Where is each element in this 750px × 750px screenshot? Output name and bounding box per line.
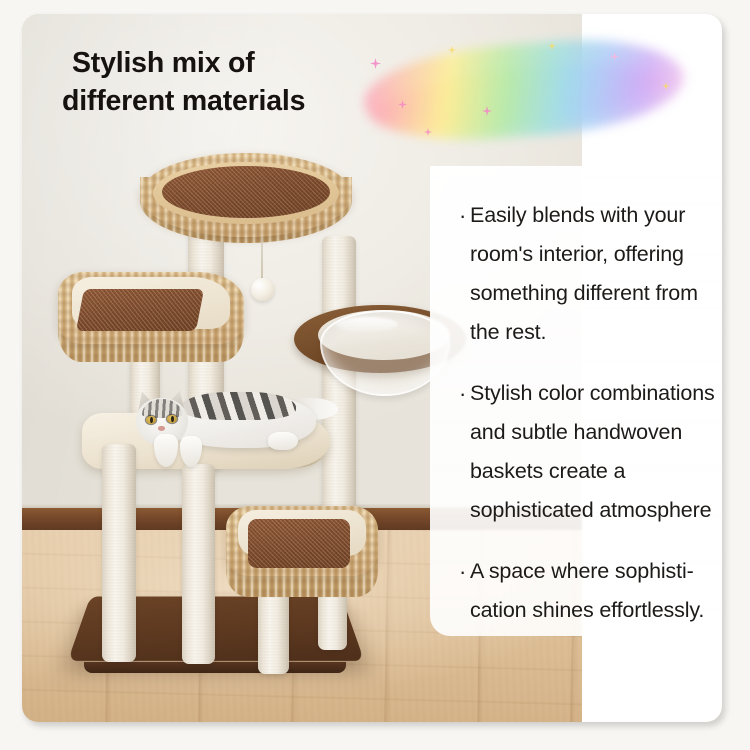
bullet-item: · A space where sophisti- cation shines …: [459, 552, 722, 630]
scratching-post-front-mid: [182, 464, 215, 664]
bottom-shelf-mat: [248, 519, 350, 568]
bullet-item: · Stylish color combinations and subtle …: [459, 374, 722, 530]
bullet-text: Stylish color combinations and subtle ha…: [470, 374, 715, 530]
bowl-highlight: [336, 317, 398, 332]
cat-tabby-markings: [180, 392, 296, 420]
bullet-marker-icon: ·: [459, 552, 470, 591]
bullet-line: room's interior, offering: [470, 235, 698, 274]
headline-line-1: Stylish mix of: [72, 44, 382, 82]
feature-bullet-list: · Easily blends with your room's interio…: [459, 196, 722, 652]
cat-eye-right: [167, 415, 177, 423]
headline-block: [362, 38, 722, 154]
pompom-toy: [251, 278, 274, 301]
bullet-item: · Easily blends with your room's interio…: [459, 196, 722, 352]
cat-tree-base-edge: [84, 662, 346, 673]
cat-front-paw-left: [154, 434, 178, 467]
bullet-line: A space where sophisti-: [470, 552, 704, 591]
bullet-line: cation shines effortlessly.: [470, 591, 704, 630]
bullet-line: baskets create a: [470, 452, 715, 491]
headline-text: Stylish mix of different materials: [72, 44, 382, 120]
cat-eye-left: [146, 416, 156, 424]
scratching-post-front-left: [102, 444, 136, 662]
headline-line-2: different materials: [62, 82, 382, 120]
bullet-text: A space where sophisti- cation shines ef…: [470, 552, 704, 630]
cat-nose: [158, 426, 165, 431]
toy-string: [261, 236, 263, 282]
cat: [118, 382, 338, 472]
bullet-text: Easily blends with your room's interior,…: [470, 196, 698, 352]
bullet-line: the rest.: [470, 313, 698, 352]
bullet-marker-icon: ·: [459, 374, 470, 413]
bullet-line: Stylish color combinations: [470, 374, 715, 413]
cat-hind-paw: [268, 432, 298, 450]
product-feature-card: Stylish mix of different materials · Eas…: [22, 14, 722, 722]
bullet-marker-icon: ·: [459, 196, 470, 235]
bullet-line: Easily blends with your: [470, 196, 698, 235]
second-shelf-mat: [76, 289, 204, 331]
bullet-line: sophisticated atmosphere: [470, 491, 715, 530]
bullet-line: and subtle handwoven: [470, 413, 715, 452]
bullet-line: something different from: [470, 274, 698, 313]
cat-front-paw-right: [180, 436, 202, 467]
top-shelf-mat: [162, 166, 330, 218]
